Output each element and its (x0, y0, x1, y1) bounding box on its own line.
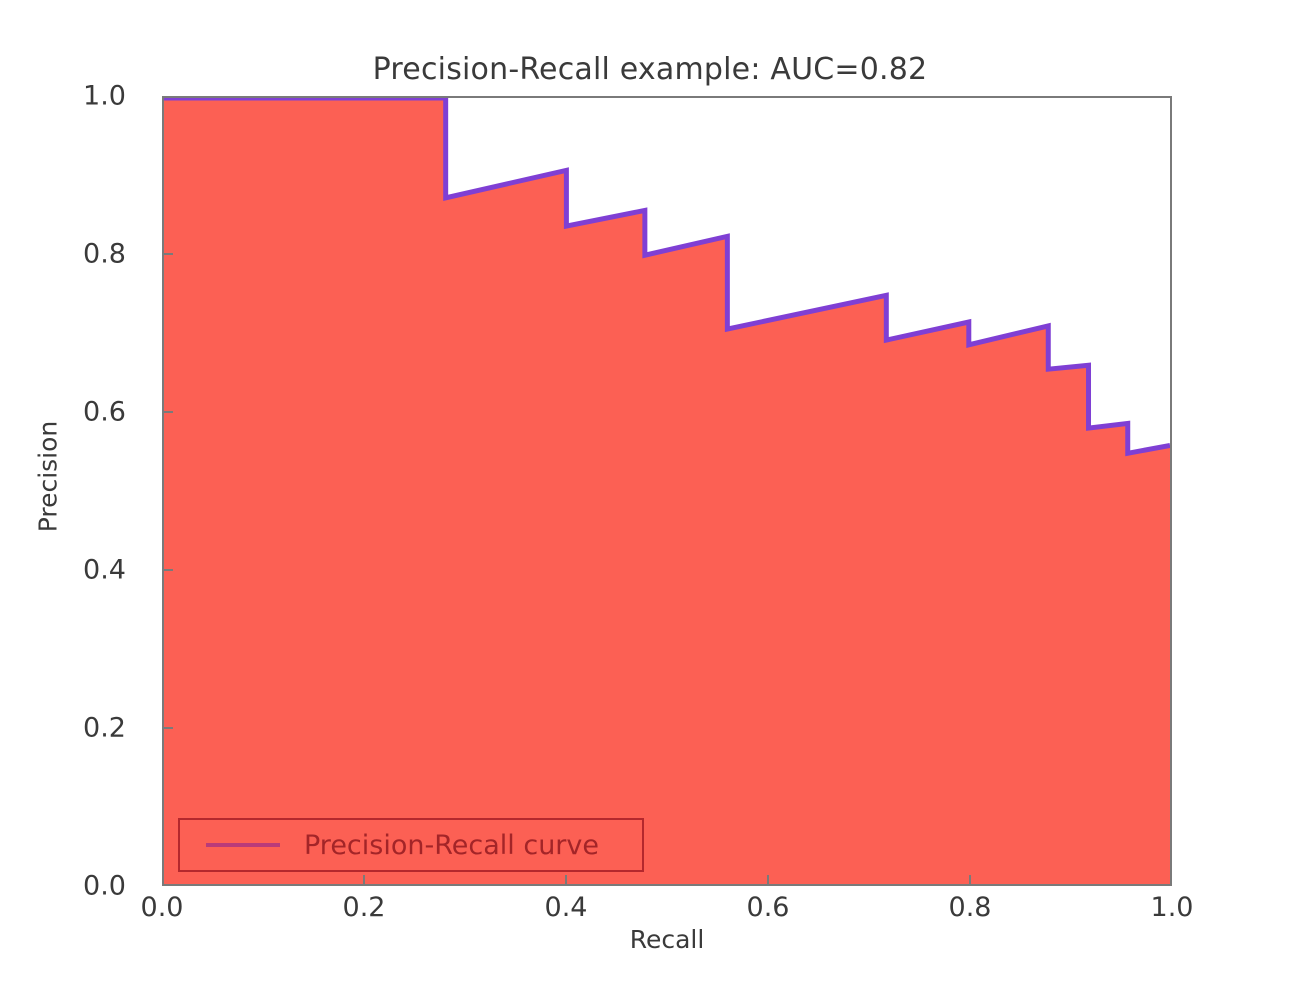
y-tick-label: 1.0 (83, 81, 126, 112)
x-tick-label: 0.0 (141, 892, 184, 923)
precision-recall-plot (164, 98, 1170, 884)
y-axis-label: Precision (34, 327, 63, 627)
y-tick-mark (162, 727, 173, 729)
legend-label: Precision-Recall curve (304, 830, 599, 861)
precision-recall-area-fill (164, 98, 1170, 884)
x-tick-mark (363, 875, 365, 886)
x-tick-mark (565, 875, 567, 886)
x-tick-label: 0.8 (949, 892, 992, 923)
x-tick-label: 0.6 (747, 892, 790, 923)
y-tick-label: 0.6 (83, 397, 126, 428)
chart-legend: Precision-Recall curve (178, 818, 644, 872)
y-tick-mark (162, 253, 173, 255)
x-tick-label: 0.2 (343, 892, 386, 923)
chart-title: Precision-Recall example: AUC=0.82 (0, 52, 1300, 87)
y-tick-label: 0.8 (83, 239, 126, 270)
y-tick-label: 0.2 (83, 713, 126, 744)
y-tick-mark (162, 411, 173, 413)
y-tick-label: 0.4 (83, 555, 126, 586)
x-tick-mark (969, 875, 971, 886)
y-tick-mark (162, 569, 173, 571)
x-tick-mark (767, 875, 769, 886)
y-tick-label: 0.0 (83, 871, 126, 902)
figure-canvas: Precision-Recall example: AUC=0.82 Preci… (0, 0, 1300, 982)
x-axis-label: Recall (162, 925, 1172, 954)
legend-line-swatch-icon (206, 843, 280, 847)
x-tick-label: 0.4 (545, 892, 588, 923)
x-tick-label: 1.0 (1151, 892, 1194, 923)
plot-axes-area (162, 96, 1172, 886)
